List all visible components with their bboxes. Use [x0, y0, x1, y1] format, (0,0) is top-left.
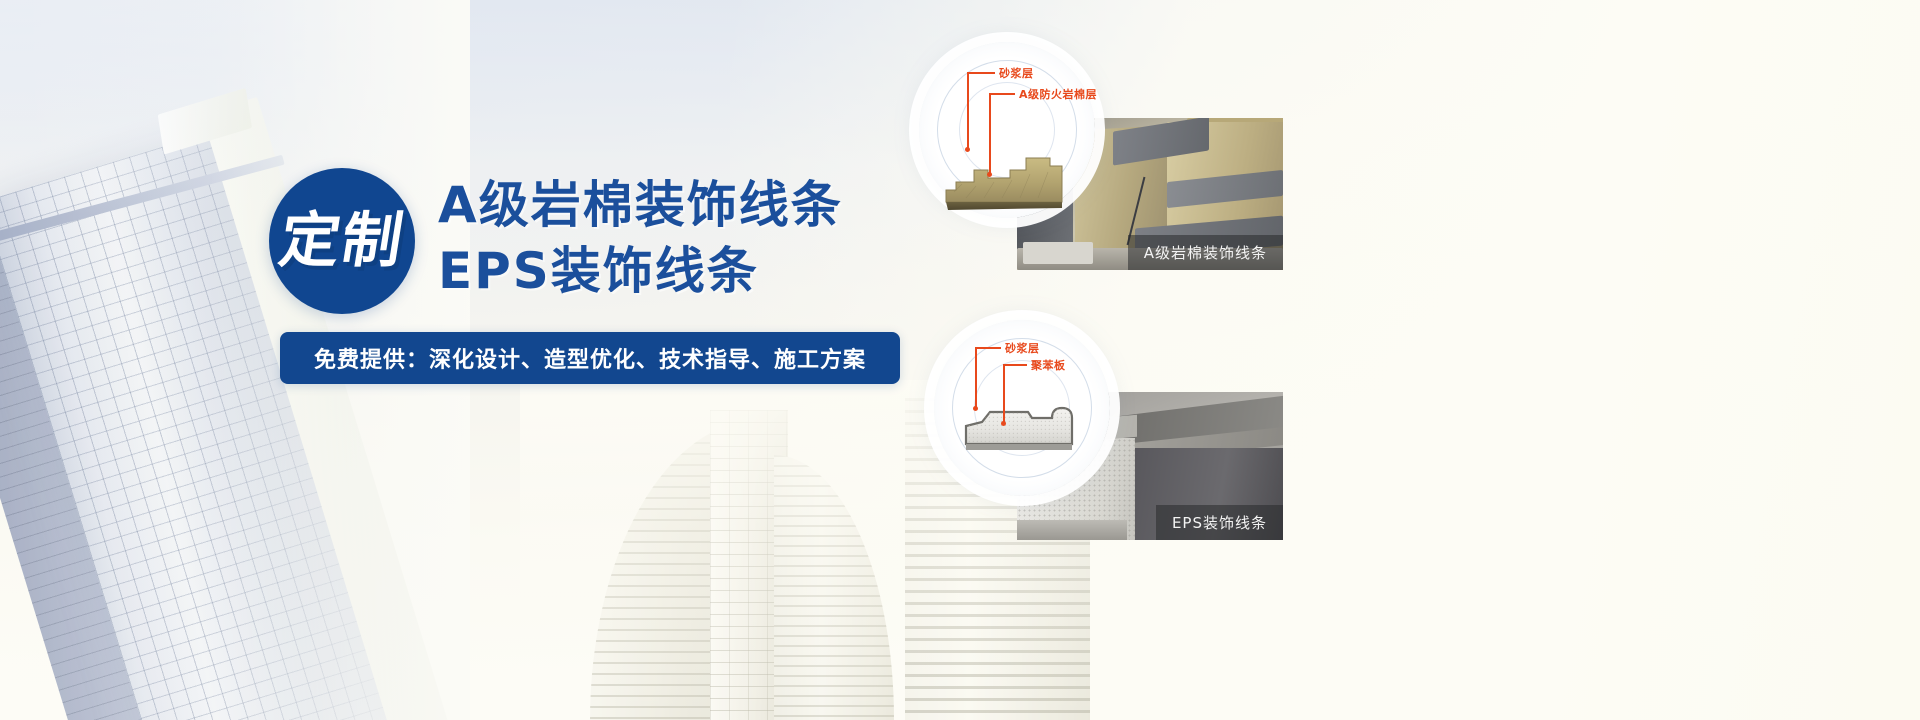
- callout-b-label-2: 聚苯板: [1031, 357, 1066, 373]
- background-right-gradient: [730, 0, 1920, 720]
- headline-line-1: A级岩棉装饰线条: [438, 172, 958, 238]
- callout-b-leader-2-h: [1003, 364, 1027, 366]
- tower-spire: [774, 455, 894, 720]
- callout-b-label-1: 砂浆层: [1005, 340, 1040, 356]
- callout-b-leader-1-h: [975, 347, 1001, 349]
- tower-cap: [158, 88, 252, 155]
- callout-a-leader-1-v: [967, 72, 969, 150]
- callout-a-dot-1: [965, 147, 970, 152]
- headline-line-2: EPS装饰线条: [438, 238, 958, 304]
- callout-b-leader-2-v: [1003, 364, 1005, 424]
- tower-tall: [710, 410, 788, 720]
- callout-a-label-2: A级防火岩棉层: [1019, 86, 1097, 102]
- callout-b-leader-1-v: [975, 347, 977, 409]
- product-caption-rockwool: A级岩棉装饰线条: [1128, 235, 1283, 270]
- callout-b-dot-1: [973, 406, 978, 411]
- callout-a-leader-1-h: [967, 72, 995, 74]
- callout-a-label-1: 砂浆层: [999, 65, 1034, 81]
- rockwool-white-block: [1023, 242, 1093, 264]
- callout-a-dot-2: [987, 172, 992, 177]
- callout-b-dot-2: [1001, 421, 1006, 426]
- custom-badge-label: 定制: [275, 211, 409, 271]
- services-bar-label: 免费提供：深化设计、造型优化、技术指导、施工方案: [314, 342, 866, 374]
- services-bar: 免费提供：深化设计、造型优化、技术指导、施工方案: [280, 332, 900, 384]
- tower-curved: [590, 420, 765, 720]
- callout-a-leader-2-h: [989, 93, 1015, 95]
- tower-shadow-block: [0, 247, 214, 720]
- eps-base-strip: [1017, 520, 1127, 540]
- headline-block: A级岩棉装饰线条 EPS装饰线条: [438, 172, 958, 304]
- promo-banner: 定制 A级岩棉装饰线条 EPS装饰线条 免费提供：深化设计、造型优化、技术指导、…: [0, 0, 1920, 720]
- eps-cross-section-icon: [960, 392, 1080, 454]
- product-caption-eps: EPS装饰线条: [1156, 505, 1283, 540]
- tower-roofline: [0, 155, 285, 263]
- rockwool-cross-section-icon: [944, 148, 1068, 212]
- custom-badge: 定制: [269, 168, 415, 314]
- callout-a-leader-2-v: [989, 93, 991, 175]
